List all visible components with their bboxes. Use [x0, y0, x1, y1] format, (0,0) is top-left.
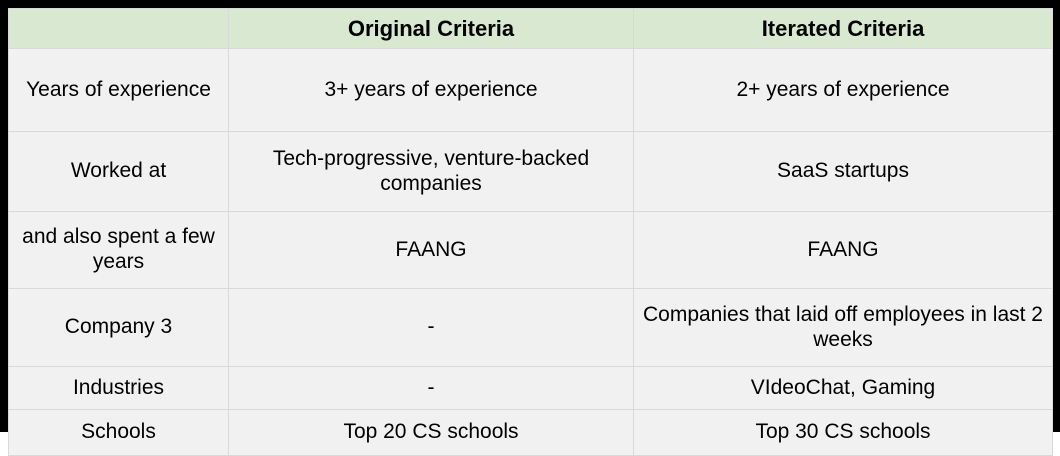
cell-original-schools: Top 20 CS schools	[229, 410, 634, 456]
cell-original-years-of-experience: 3+ years of experience	[229, 49, 634, 132]
cell-iterated-company-3: Companies that laid off employees in las…	[634, 289, 1053, 367]
table-row: Years of experience 3+ years of experien…	[9, 49, 1053, 132]
row-label-worked-at: Worked at	[9, 132, 229, 212]
criteria-comparison-table: Original Criteria Iterated Criteria Year…	[8, 8, 1053, 456]
cell-iterated-and-also-spent-a-few-years: FAANG	[634, 212, 1053, 289]
header-iterated-criteria: Iterated Criteria	[634, 9, 1053, 49]
table-row: and also spent a few years FAANG FAANG	[9, 212, 1053, 289]
cell-iterated-schools: Top 30 CS schools	[634, 410, 1053, 456]
cell-iterated-years-of-experience: 2+ years of experience	[634, 49, 1053, 132]
cell-original-company-3: -	[229, 289, 634, 367]
row-label-industries: Industries	[9, 367, 229, 410]
criteria-table-container: Original Criteria Iterated Criteria Year…	[0, 0, 1060, 432]
row-label-years-of-experience: Years of experience	[9, 49, 229, 132]
cell-iterated-worked-at: SaaS startups	[634, 132, 1053, 212]
header-blank	[9, 9, 229, 49]
row-label-company-3: Company 3	[9, 289, 229, 367]
table-row: Schools Top 20 CS schools Top 30 CS scho…	[9, 410, 1053, 456]
row-label-schools: Schools	[9, 410, 229, 456]
table-header: Original Criteria Iterated Criteria	[9, 9, 1053, 49]
table-body: Years of experience 3+ years of experien…	[9, 49, 1053, 456]
cell-original-worked-at: Tech-progressive, venture-backed compani…	[229, 132, 634, 212]
cell-original-industries: -	[229, 367, 634, 410]
table-row: Industries - VIdeoChat, Gaming	[9, 367, 1053, 410]
header-row: Original Criteria Iterated Criteria	[9, 9, 1053, 49]
cell-original-and-also-spent-a-few-years: FAANG	[229, 212, 634, 289]
row-label-and-also-spent-a-few-years: and also spent a few years	[9, 212, 229, 289]
cell-iterated-industries: VIdeoChat, Gaming	[634, 367, 1053, 410]
header-original-criteria: Original Criteria	[229, 9, 634, 49]
table-row: Worked at Tech-progressive, venture-back…	[9, 132, 1053, 212]
table-row: Company 3 - Companies that laid off empl…	[9, 289, 1053, 367]
